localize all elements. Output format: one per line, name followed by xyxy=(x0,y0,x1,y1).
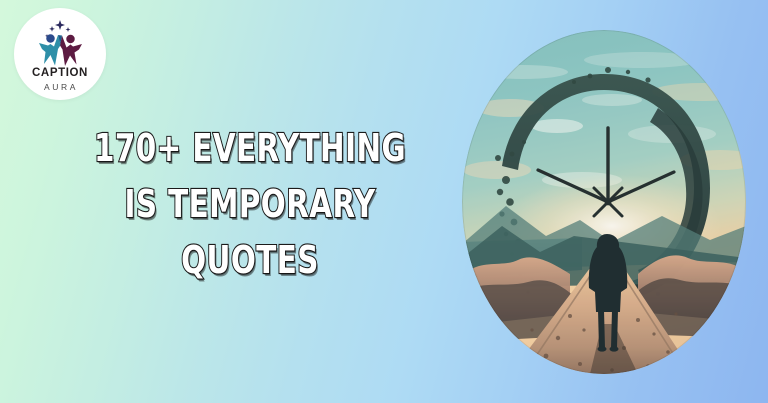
banner-image: CAPTION AURA 170+ Everything Is Temporar… xyxy=(0,0,768,403)
page-title: 170+ Everything Is Temporary Quotes xyxy=(60,120,440,288)
color-grade-overlay xyxy=(462,30,746,374)
title-line-1: 170+ Everything xyxy=(87,120,414,176)
brand-subtitle: AURA xyxy=(42,83,78,92)
figure-left-head xyxy=(46,34,55,43)
title-line-3: Quotes xyxy=(87,232,414,288)
figure-right-head xyxy=(66,34,75,43)
brand-logo[interactable]: CAPTION AURA xyxy=(14,8,106,100)
two-people-star-icon xyxy=(32,19,88,67)
surreal-clock-road-walker-illustration xyxy=(462,30,746,374)
title-line-2: Is Temporary xyxy=(87,176,414,232)
featured-photo xyxy=(462,30,746,374)
brand-name: CAPTION xyxy=(32,68,88,80)
